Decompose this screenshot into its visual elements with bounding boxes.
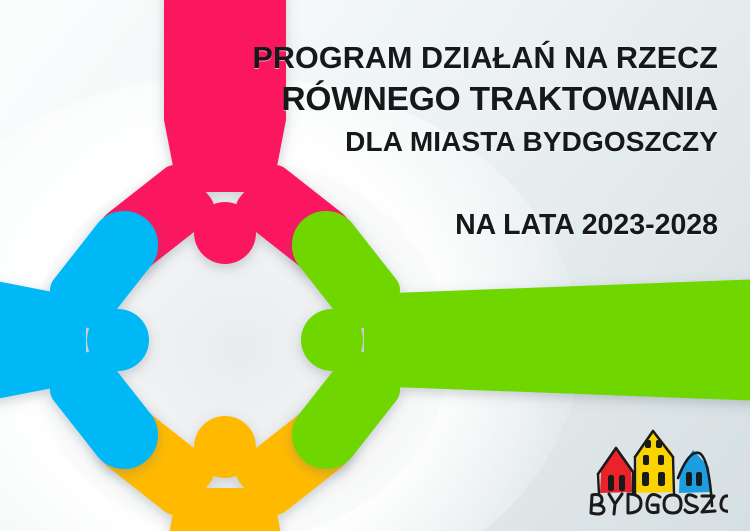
wordmark-letter-o (664, 495, 681, 513)
bydgoszcz-logo-svg (583, 428, 728, 520)
headline-block: PROGRAM DZIAŁAŃ NA RZECZ RÓWNEGO TRAKTOW… (248, 38, 718, 162)
house-blue-window-left (686, 472, 692, 486)
house-yellow-body (636, 430, 675, 493)
wordmark-letter-c (721, 496, 728, 511)
house-red-body (600, 449, 632, 493)
figure-right-green (301, 228, 750, 452)
house-blue-body (679, 450, 711, 493)
figure-right-arm-bottom (309, 368, 383, 452)
figure-left-arm-bottom (67, 368, 141, 452)
wordmark-letter-g (647, 495, 660, 513)
headline-line-2: RÓWNEGO TRAKTOWANIA (248, 78, 718, 122)
house-yellow-icon (635, 430, 675, 494)
figure-left-torso (0, 279, 58, 401)
house-blue-window-right (696, 472, 702, 486)
bydgoszcz-wordmark (591, 494, 728, 514)
house-yellow-window-5 (642, 472, 649, 486)
period-label: NA LATA 2023-2028 (248, 206, 718, 244)
figure-right-head (301, 309, 363, 371)
figure-left-arm-top (67, 228, 141, 312)
house-yellow-window-4 (658, 455, 664, 465)
house-yellow-window-1 (645, 440, 651, 448)
wordmark-letter-b (591, 495, 604, 514)
figure-left-blue (0, 228, 149, 452)
house-yellow-window-2 (656, 440, 662, 448)
house-red-window-left (608, 475, 614, 491)
house-red-wall-left (598, 474, 599, 494)
house-yellow-window-3 (643, 455, 649, 465)
figure-right-torso (392, 279, 750, 401)
figure-top-head (194, 202, 256, 264)
wordmark-letter-d (628, 494, 641, 513)
figure-left-torso-taper (58, 293, 86, 387)
wordmark-letter-s (685, 495, 698, 513)
figure-right-torso-taper (364, 293, 392, 387)
figure-bottom-head (194, 416, 256, 478)
house-red-icon (598, 448, 633, 494)
bydgoszcz-logo (583, 428, 728, 520)
house-yellow-window-6 (658, 472, 665, 486)
house-yellow-wall-right (673, 457, 674, 494)
figure-bottom-torso (164, 488, 286, 531)
wordmark-letter-y (609, 494, 622, 514)
headline-line-3: DLA MIASTA BYDGOSZCZY (248, 122, 718, 162)
headline-line-1: PROGRAM DZIAŁAŃ NA RZECZ (248, 38, 718, 78)
poster-canvas: PROGRAM DZIAŁAŃ NA RZECZ RÓWNEGO TRAKTOW… (0, 0, 750, 531)
house-red-window-right (619, 475, 625, 491)
figure-left-head (87, 309, 149, 371)
